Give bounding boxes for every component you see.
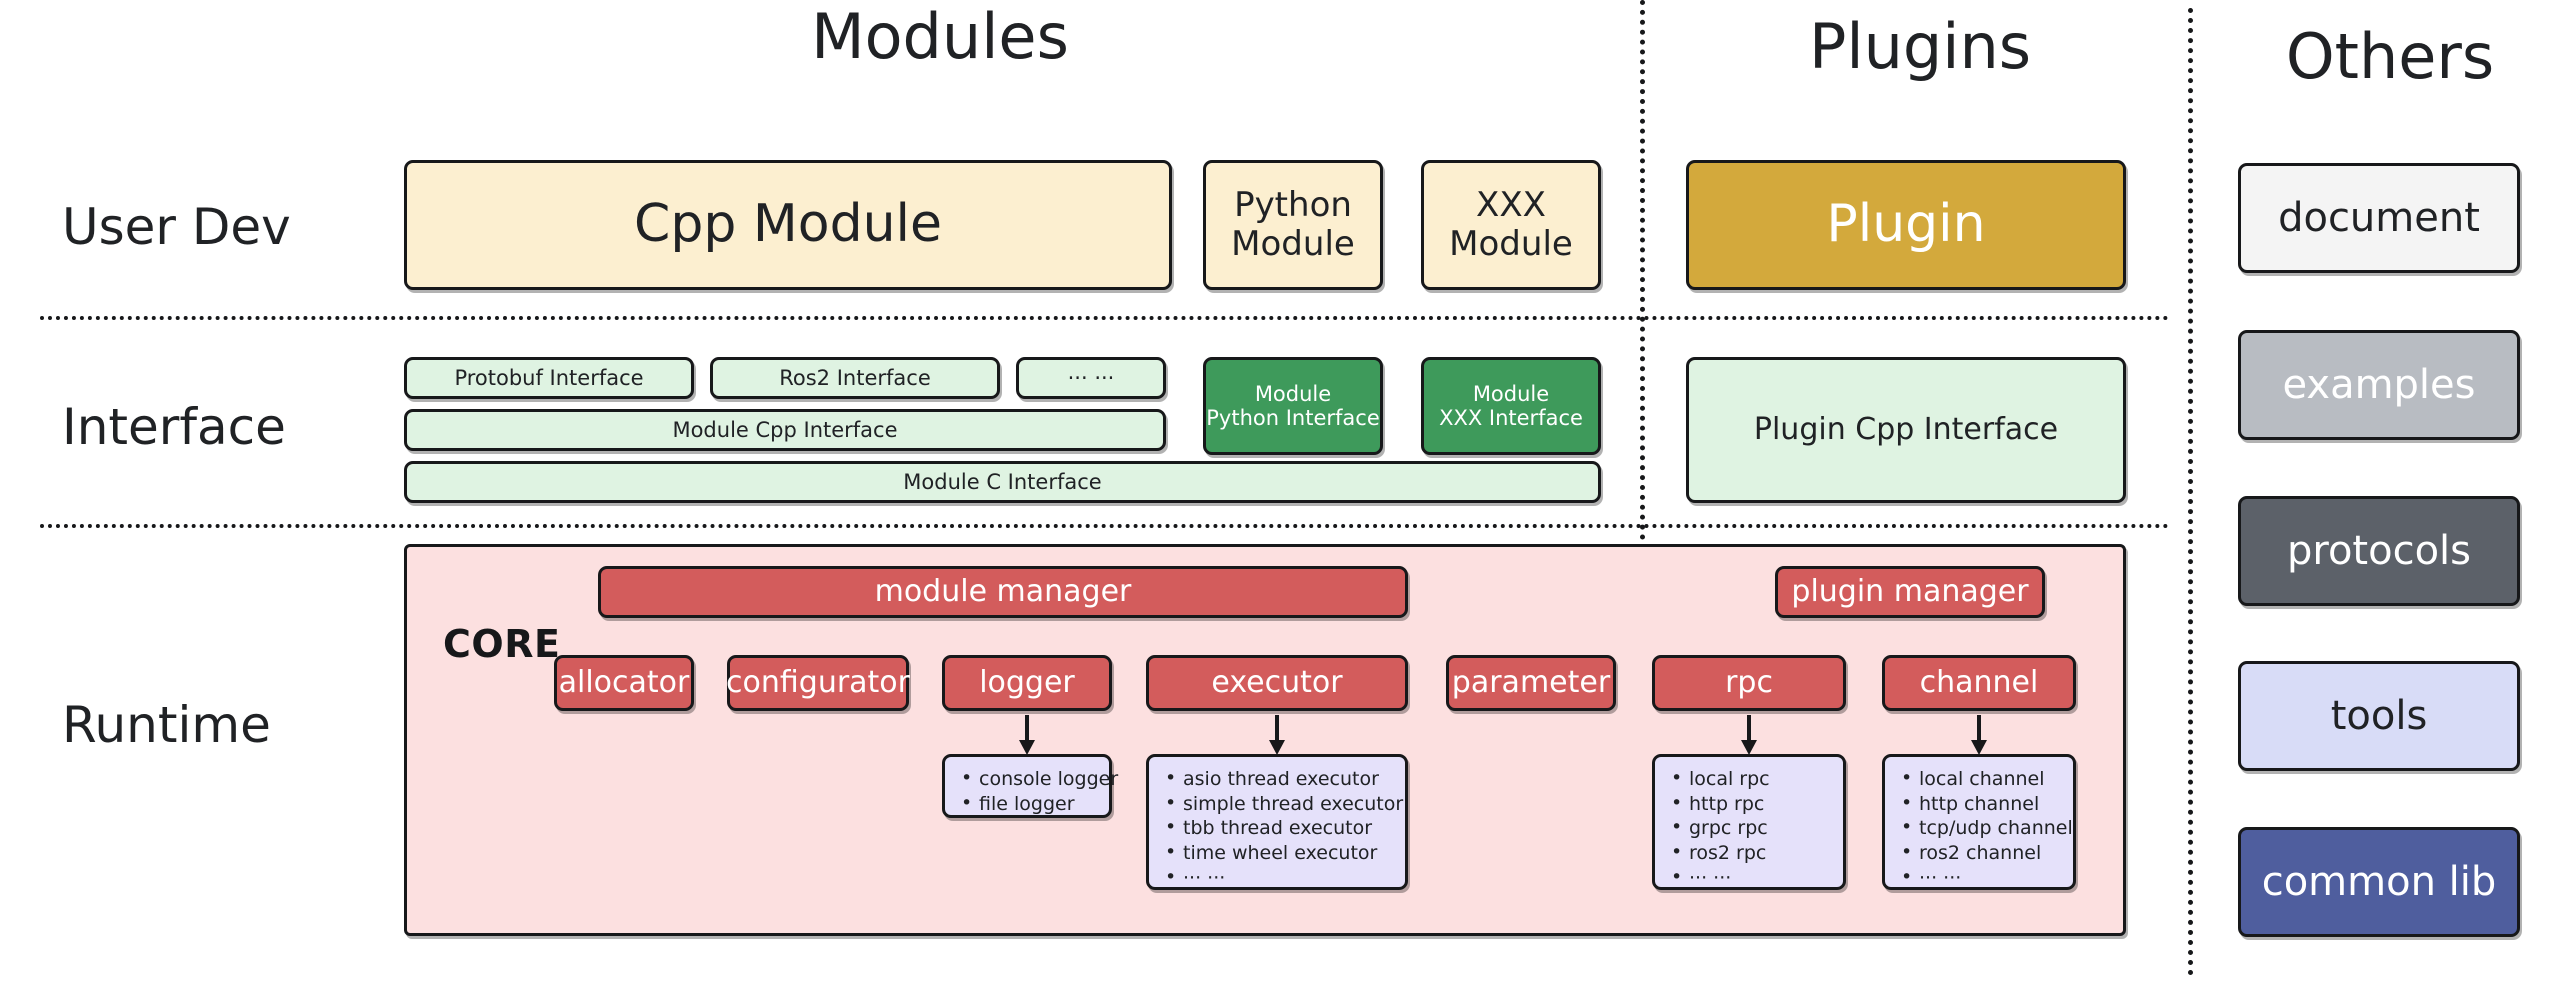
protobuf-interface-box[interactable]: Protobuf Interface <box>404 357 694 399</box>
others-item-protocols-label: protocols <box>2287 528 2471 574</box>
list-item: console logger <box>959 767 1101 792</box>
parameter-label: parameter <box>1452 666 1610 701</box>
separator-user-dev-interface <box>40 316 2170 320</box>
rpc-detail-list: local rpchttp rpcgrpc rpcros2 rpc··· ··· <box>1652 754 1846 890</box>
executor-detail-list: asio thread executorsimple thread execut… <box>1146 754 1408 890</box>
row-label-interface: Interface <box>62 398 286 456</box>
list-item: time wheel executor <box>1163 841 1397 866</box>
python-module-box[interactable]: Python Module <box>1203 160 1383 290</box>
column-header-modules: Modules <box>660 0 1220 73</box>
rpc-label: rpc <box>1725 666 1773 701</box>
logger-label: logger <box>979 666 1075 701</box>
ros2-interface-label: Ros2 Interface <box>779 366 931 390</box>
executor-label: executor <box>1211 666 1342 701</box>
allocator-box[interactable]: allocator <box>554 655 694 711</box>
list-item: file logger <box>959 792 1101 817</box>
separator-interface-runtime <box>40 524 2170 528</box>
channel-detail-items: local channelhttp channeltcp/udp channel… <box>1899 767 2065 890</box>
logger-detail-items: console loggerfile logger <box>959 767 1101 816</box>
others-item-document[interactable]: document <box>2238 163 2520 273</box>
column-header-others: Others <box>2230 20 2550 93</box>
module-cpp-interface-box[interactable]: Module Cpp Interface <box>404 409 1166 451</box>
more-interfaces-box[interactable]: ··· ··· <box>1016 357 1166 399</box>
more-interfaces-label: ··· ··· <box>1068 366 1115 390</box>
rpc-detail-items: local rpchttp rpcgrpc rpcros2 rpc··· ··· <box>1669 767 1835 890</box>
plugin-cpp-interface-label: Plugin Cpp Interface <box>1754 413 2058 448</box>
module-cpp-interface-label: Module Cpp Interface <box>672 418 897 442</box>
ros2-interface-box[interactable]: Ros2 Interface <box>710 357 1000 399</box>
channel-label: channel <box>1920 666 2039 701</box>
executor-down-arrow-icon <box>1264 715 1290 755</box>
list-item: ros2 rpc <box>1669 841 1835 866</box>
module-xxx-interface-label-line2: XXX Interface <box>1439 406 1583 430</box>
configurator-label: configurator <box>726 666 910 701</box>
logger-down-arrow-icon <box>1014 715 1040 755</box>
plugin-box[interactable]: Plugin <box>1686 160 2126 290</box>
configurator-box[interactable]: configurator <box>727 655 909 711</box>
module-c-interface-label: Module C Interface <box>903 470 1101 494</box>
executor-box[interactable]: executor <box>1146 655 1408 711</box>
others-item-tools-label: tools <box>2331 693 2428 739</box>
architecture-diagram: Modules Plugins Others User Dev Interfac… <box>0 0 2560 984</box>
module-manager-label: module manager <box>875 575 1132 610</box>
others-item-common-lib[interactable]: common lib <box>2238 827 2520 937</box>
module-xxx-interface-box[interactable]: Module XXX Interface <box>1421 357 1601 455</box>
list-item: http channel <box>1899 792 2065 817</box>
cpp-module-label: Cpp Module <box>634 195 942 255</box>
python-module-label-line2: Module <box>1231 225 1355 264</box>
module-xxx-interface-label-line1: Module <box>1473 382 1549 406</box>
list-item: tcp/udp channel <box>1899 816 2065 841</box>
executor-detail-items: asio thread executorsimple thread execut… <box>1163 767 1397 890</box>
parameter-box[interactable]: parameter <box>1446 655 1616 711</box>
rpc-down-arrow-icon <box>1736 715 1762 755</box>
separator-modules-plugins <box>1640 0 1645 540</box>
xxx-module-label-line2: Module <box>1449 225 1573 264</box>
list-item: ··· ··· <box>1669 866 1835 891</box>
others-item-tools[interactable]: tools <box>2238 661 2520 771</box>
row-label-user-dev: User Dev <box>62 198 291 256</box>
module-manager-box[interactable]: module manager <box>598 566 1408 618</box>
list-item: ros2 channel <box>1899 841 2065 866</box>
plugin-manager-box[interactable]: plugin manager <box>1775 566 2045 618</box>
module-python-interface-label-line1: Module <box>1255 382 1331 406</box>
plugin-label: Plugin <box>1826 195 1985 255</box>
module-python-interface-box[interactable]: Module Python Interface <box>1203 357 1383 455</box>
others-item-common-lib-label: common lib <box>2262 859 2497 905</box>
column-header-plugins: Plugins <box>1680 10 2160 83</box>
list-item: http rpc <box>1669 792 1835 817</box>
xxx-module-label-line1: XXX <box>1476 186 1546 225</box>
channel-down-arrow-icon <box>1966 715 1992 755</box>
cpp-module-box[interactable]: Cpp Module <box>404 160 1172 290</box>
logger-detail-list: console loggerfile logger <box>942 754 1112 818</box>
list-item: asio thread executor <box>1163 767 1397 792</box>
rpc-box[interactable]: rpc <box>1652 655 1846 711</box>
row-label-runtime: Runtime <box>62 696 271 754</box>
python-module-label-line1: Python <box>1234 186 1352 225</box>
list-item: local rpc <box>1669 767 1835 792</box>
list-item: ··· ··· <box>1899 866 2065 891</box>
core-label: CORE <box>443 622 560 666</box>
separator-plugins-others <box>2188 8 2193 976</box>
plugin-cpp-interface-box[interactable]: Plugin Cpp Interface <box>1686 357 2126 503</box>
protobuf-interface-label: Protobuf Interface <box>454 366 643 390</box>
list-item: ··· ··· <box>1163 866 1397 891</box>
list-item: local channel <box>1899 767 2065 792</box>
others-item-document-label: document <box>2278 195 2480 241</box>
logger-box[interactable]: logger <box>942 655 1112 711</box>
others-item-protocols[interactable]: protocols <box>2238 496 2520 606</box>
plugin-manager-label: plugin manager <box>1791 575 2028 610</box>
allocator-label: allocator <box>559 666 690 701</box>
list-item: grpc rpc <box>1669 816 1835 841</box>
others-item-examples[interactable]: examples <box>2238 330 2520 440</box>
list-item: tbb thread executor <box>1163 816 1397 841</box>
xxx-module-box[interactable]: XXX Module <box>1421 160 1601 290</box>
list-item: simple thread executor <box>1163 792 1397 817</box>
channel-detail-list: local channelhttp channeltcp/udp channel… <box>1882 754 2076 890</box>
module-c-interface-box[interactable]: Module C Interface <box>404 461 1601 503</box>
channel-box[interactable]: channel <box>1882 655 2076 711</box>
module-python-interface-label-line2: Python Interface <box>1206 406 1380 430</box>
others-item-examples-label: examples <box>2282 362 2475 408</box>
